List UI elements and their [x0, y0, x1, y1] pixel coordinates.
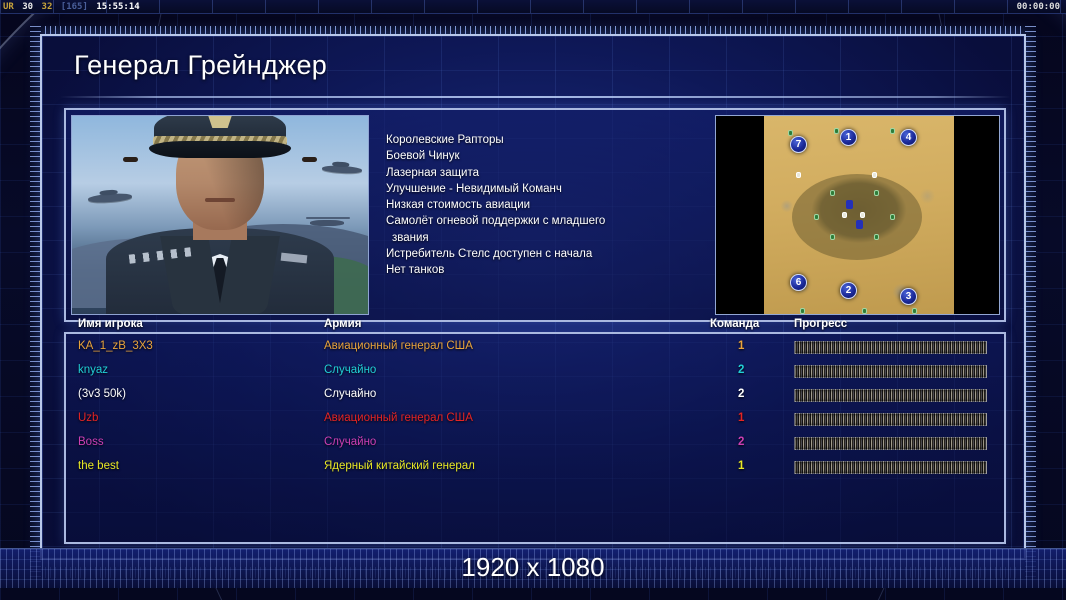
- minimap-start-position[interactable]: 4: [900, 129, 917, 146]
- status-clock-right: 00:00:00: [1017, 0, 1060, 14]
- status-label: UR: [3, 2, 14, 12]
- game-screen: UR 30 32 [165] 15:55:14 00:00:00 Генерал…: [0, 0, 1066, 600]
- minimap-supply-icon: [830, 234, 835, 240]
- general-bonus-line: Боевой Чинук: [386, 148, 686, 164]
- player-team: 2: [738, 388, 744, 400]
- status-num-2: 32: [42, 2, 53, 12]
- player-team: 1: [738, 460, 744, 472]
- title-divider: [60, 96, 1010, 98]
- status-bar-ticks: [0, 0, 1066, 13]
- minimap-tech-icon: [842, 212, 847, 218]
- player-name: KA_1_zB_3X3: [78, 340, 153, 352]
- column-header-progress: Прогресс: [794, 318, 847, 330]
- table-row[interactable]: UzbАвиационный генерал США1: [66, 408, 1008, 432]
- table-row[interactable]: (3v3 50k)Случайно2: [66, 384, 1008, 408]
- minimap-start-position[interactable]: 3: [900, 288, 917, 305]
- player-team: 1: [738, 340, 744, 352]
- player-name: the best: [78, 460, 119, 472]
- player-team: 2: [738, 436, 744, 448]
- status-bar: UR 30 32 [165] 15:55:14 00:00:00: [0, 0, 1066, 14]
- player-name: (3v3 50k): [78, 388, 126, 400]
- player-team: 2: [738, 364, 744, 376]
- general-info-panel: Генерал Грейнджер: [40, 34, 1026, 560]
- minimap-tech-icon: [872, 172, 877, 178]
- general-bonus-line: Самолёт огневой поддержки с младшего: [386, 213, 686, 229]
- player-rows: KA_1_zB_3X3Авиационный генерал США1knyaz…: [66, 336, 1008, 480]
- minimap-basin: [792, 174, 922, 260]
- player-progress-bar: [794, 413, 987, 426]
- status-bar-left: UR 30 32 [165] 15:55:14: [3, 0, 143, 14]
- table-row[interactable]: KA_1_zB_3X3Авиационный генерал США1: [66, 336, 1008, 360]
- player-progress-bar: [794, 365, 987, 378]
- player-list-header: Имя игрока Армия Команда Прогресс: [66, 318, 1008, 334]
- column-header-team: Команда: [710, 318, 759, 330]
- table-row[interactable]: the bestЯдерный китайский генерал1: [66, 456, 1008, 480]
- minimap-start-position[interactable]: 2: [840, 282, 857, 299]
- page-title: Генерал Грейнджер: [74, 50, 327, 81]
- player-army: Авиационный генерал США: [324, 412, 473, 424]
- minimap-start-position[interactable]: 7: [790, 136, 807, 153]
- player-progress-bar: [794, 389, 987, 402]
- player-name: knyaz: [78, 364, 108, 376]
- general-bonus-line: звания: [386, 230, 686, 246]
- player-name: Uzb: [78, 412, 98, 424]
- minimap-start-position[interactable]: 6: [790, 274, 807, 291]
- column-header-army: Армия: [324, 318, 361, 330]
- minimap-start-position[interactable]: 1: [840, 129, 857, 146]
- minimap-oil-icon: [856, 220, 863, 229]
- minimap-supply-icon: [890, 214, 895, 220]
- player-army: Случайно: [324, 436, 376, 448]
- mouth: [205, 198, 235, 202]
- player-progress-bar: [794, 341, 987, 354]
- general-bonus-list: Королевские РапторыБоевой ЧинукЛазерная …: [386, 132, 686, 279]
- minimap-tech-icon: [860, 212, 865, 218]
- minimap-supply-icon: [834, 128, 839, 134]
- general-bonus-line: Улучшение - Невидимый Команч: [386, 181, 686, 197]
- table-row[interactable]: BossСлучайно2: [66, 432, 1008, 456]
- column-header-name: Имя игрока: [78, 318, 143, 330]
- cap-brim: [149, 141, 291, 158]
- player-army: Авиационный генерал США: [324, 340, 473, 352]
- minimap-supply-icon: [788, 130, 793, 136]
- general-figure: [105, 139, 335, 314]
- minimap-supply-icon: [800, 308, 805, 314]
- minimap-supply-icon: [890, 128, 895, 134]
- player-army: Ядерный китайский генерал: [324, 460, 475, 472]
- general-bonus-line: Истребитель Стелс доступен с начала: [386, 246, 686, 262]
- general-bonus-line: Низкая стоимость авиации: [386, 197, 686, 213]
- table-row[interactable]: knyazСлучайно2: [66, 360, 1008, 384]
- minimap-supply-icon: [814, 214, 819, 220]
- minimap-supply-icon: [874, 234, 879, 240]
- general-detail-box: Королевские РапторыБоевой ЧинукЛазерная …: [64, 108, 1006, 322]
- minimap[interactable]: 714623: [715, 115, 1000, 315]
- player-army: Случайно: [324, 388, 376, 400]
- general-bonus-line: Лазерная защита: [386, 165, 686, 181]
- general-bonus-line: Нет танков: [386, 262, 686, 278]
- player-army: Случайно: [324, 364, 376, 376]
- minimap-oil-icon: [846, 200, 853, 209]
- minimap-supply-icon: [830, 190, 835, 196]
- minimap-tech-icon: [796, 172, 801, 178]
- player-progress-bar: [794, 461, 987, 474]
- ruler-right: [1025, 26, 1036, 578]
- minimap-supply-icon: [874, 190, 879, 196]
- status-bracket: [165]: [61, 2, 88, 12]
- player-list: Имя игрока Армия Команда Прогресс KA_1_z…: [64, 332, 1006, 544]
- general-bonus-line: Королевские Рапторы: [386, 132, 686, 148]
- status-num-1: 30: [22, 2, 33, 12]
- resolution-label: 1920 x 1080: [0, 552, 1066, 583]
- eye-left: [123, 157, 138, 162]
- player-team: 1: [738, 412, 744, 424]
- player-progress-bar: [794, 437, 987, 450]
- player-name: Boss: [78, 436, 104, 448]
- status-time: 15:55:14: [96, 2, 139, 12]
- minimap-supply-icon: [912, 308, 917, 314]
- general-portrait: [71, 115, 369, 315]
- minimap-supply-icon: [862, 308, 867, 314]
- eye-right: [302, 157, 317, 162]
